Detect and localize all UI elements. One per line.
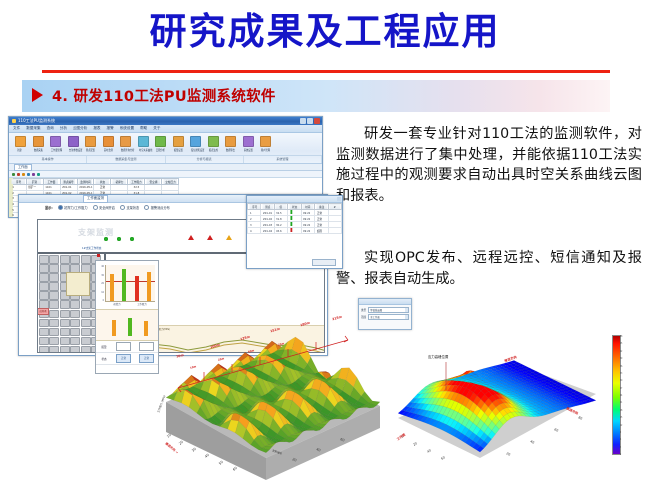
colorbar-tick-16: 0 [620,453,621,456]
svg-text:60: 60 [554,427,559,432]
menu-item-0[interactable]: 文件 [13,126,20,131]
window-controls[interactable] [300,118,320,124]
support-unit[interactable] [70,346,80,353]
surface2-annotation: 应力高峰位置 [428,354,448,359]
bar-0 [110,274,114,301]
ribbon-button-0[interactable]: 新建 [15,136,24,152]
support-unit[interactable] [49,291,59,300]
y-tick-1: 30 [101,274,104,277]
menu-item-1[interactable]: 数据采集 [26,126,40,131]
status-cell: 正常 [116,354,131,363]
bar-series-2 [106,314,154,336]
colorbar-tick-10: 18 [620,409,622,412]
ribbon-icon-1 [33,136,44,147]
y-tick-3: 10 [101,291,104,294]
measurement-table[interactable]: 序号测点值状态时间备注#1Z01-0132.509:22正常2Z01-0231.… [247,203,342,234]
support-unit[interactable] [39,337,49,346]
ribbon-label-0: 新建 [16,148,23,152]
screenshot-collage: 110工法PU监测系统 文件数据采集查询分析云图分析报表报警系统设置帮助关于 新… [0,112,650,488]
bullet-arrow-icon [32,88,43,102]
ribbon-icon-4 [85,136,96,147]
ribbon-label-13: 系统设置 [243,148,250,152]
surface-chart-2-svg: 0 20 40 60 20 40 60 80 [388,334,616,486]
bar-1 [122,269,126,301]
page-title: 研究成果及工程应用 [0,8,650,56]
maximize-button[interactable] [307,118,313,124]
ribbon-icon-row[interactable]: 新建数据采集工作面管理支架参数设置测点配置实时监测数据查询分析时空关系曲线云图分… [9,133,322,152]
ribbon-icon-7 [138,136,149,147]
ribbon-button-14[interactable]: 用户管理 [260,136,269,152]
close-button[interactable] [314,118,320,124]
support-unit[interactable] [49,337,59,346]
toolbar-export-icon[interactable] [32,173,35,176]
ribbon-label-9: 报警设置 [173,148,180,152]
colorbar-tick-0: 48 [620,335,622,338]
support-unit[interactable] [60,255,70,264]
app-titlebar: 110工法PU监测系统 [9,117,322,125]
support-unit[interactable] [81,255,91,264]
radio-label: 安全阀开启 [99,205,115,210]
chevron-down-icon[interactable] [405,315,409,319]
support-unit[interactable] [70,255,80,264]
menu-item-8[interactable]: 帮助 [140,126,147,131]
ribbon-icon-14 [260,136,271,147]
ribbon-label-3: 支架参数设置 [68,148,75,152]
ribbon-button-10[interactable]: 短信通知设置 [190,136,199,152]
colorbar-tick-6: 30 [620,379,622,382]
menu-item-5[interactable]: 报表 [93,126,100,131]
ribbon-button-13[interactable]: 系统设置 [243,136,252,152]
support-unit[interactable] [70,337,80,346]
svg-text:40: 40 [530,439,535,444]
app-logo-icon [12,119,16,123]
support-unit[interactable] [81,337,91,346]
svg-text:60: 60 [232,466,238,472]
surface-chart-1-svg: 10 20 30 40 50 60 20 40 60 [148,310,392,488]
ribbon-label-1: 数据采集 [33,148,40,152]
support-unit[interactable] [39,264,49,273]
radio-option-2[interactable]: 支架状态 [120,205,139,210]
x-label-1: 工作阻力 [137,302,147,309]
measurement-data-window[interactable]: 序号测点值状态时间备注#1Z01-0132.509:22正常2Z01-0231.… [246,195,343,269]
ribbon-button-2[interactable]: 工作面管理 [50,136,59,152]
support-unit[interactable] [70,328,80,337]
colorbar-tick-13: 9 [620,431,621,434]
colorbar-tick-8: 24 [620,394,622,397]
title-divider [42,70,610,73]
support-unit[interactable] [49,310,59,319]
app-title: 110工法PU监测系统 [18,117,55,125]
ribbon-label-8: 云图分析 [156,148,163,152]
colorbar-tick-15: 3 [620,446,621,449]
support-unit[interactable] [60,337,70,346]
svg-text:20: 20 [178,440,184,446]
toolbar-stop-icon[interactable] [17,173,20,176]
radio-label: 支架状态 [126,205,139,210]
bar-3 [147,272,151,301]
radio-option-0[interactable]: 初撑力/工作阻力 [58,205,88,210]
support-unit[interactable] [60,328,70,337]
bar2-0 [112,320,116,336]
radio-label: 初撑力/工作阻力 [64,205,87,210]
ribbon-button-4[interactable]: 测点配置 [85,136,94,152]
support-unit[interactable] [39,346,49,353]
support-unit[interactable] [60,310,70,319]
app-menubar[interactable]: 文件数据采集查询分析云图分析报表报警系统设置帮助关于 [9,125,322,133]
status-led-green [104,237,108,241]
ribbon-icon-12 [225,136,236,147]
toolbar-filter-icon[interactable] [37,173,40,176]
support-unit[interactable] [70,300,80,309]
app-tabrow[interactable]: 工作面 [9,164,322,171]
ribbon-button-7[interactable]: 时空关系曲线 [138,136,147,152]
x-label-0: 初撑力 [113,302,120,309]
radio-icon[interactable] [93,205,98,210]
ribbon-icon-8 [155,136,166,147]
tab-face-monitor[interactable]: 工作面监测 [83,195,108,202]
support-unit[interactable] [70,310,80,319]
ribbon-group-2: 分析与报表 [166,156,244,163]
support-unit[interactable] [49,300,59,309]
ribbon-icon-3 [68,136,79,147]
support-unit[interactable] [60,319,70,328]
refresh-button[interactable] [312,259,336,266]
status-row-1-label: 报警 [96,345,112,349]
ribbon-button-3[interactable]: 支架参数设置 [68,136,77,152]
bar-chart-upper: 403020100 初撑力工作阻力 [96,261,158,310]
ribbon-label-11: 报表生成 [208,148,215,152]
colorbar-ticks: 484542393633302724211815129630 [620,335,636,453]
alarm-marker-row [188,235,232,240]
grid-toolbar[interactable] [9,171,322,178]
ribbon-label-10: 短信通知设置 [191,148,198,152]
svg-text:20: 20 [412,441,418,447]
svg-text:40: 40 [426,448,432,454]
colorbar-tick-14: 6 [620,438,621,441]
radio-option-3[interactable]: 报警测点分布 [144,205,170,210]
entry-tag: 进风巷 [37,308,49,315]
support-unit[interactable] [70,319,80,328]
support-grid[interactable] [38,254,102,353]
support-unit[interactable] [81,310,91,319]
bar-chart-plot [105,265,155,302]
ribbon-button-9[interactable]: 报警设置 [173,136,182,152]
ribbon-label-12: 数据导出 [226,148,233,152]
support-unit[interactable] [39,319,49,328]
status-led-green [130,237,134,241]
ribbon-group-0: 基本操作 [9,156,87,163]
ribbon-label-7: 时空关系曲线 [138,148,145,152]
ribbon-label-14: 用户管理 [261,148,268,152]
svg-text:50: 50 [218,460,224,466]
ribbon-icon-5 [103,136,114,147]
minimize-button[interactable] [300,118,306,124]
status-indicator-icon [290,216,292,219]
surface-chart-1: 10 20 30 40 50 60 20 40 60 70m 100m 125m… [148,310,392,488]
data-window-close-icon[interactable] [337,197,341,201]
menu-item-4[interactable]: 云图分析 [73,126,87,131]
colorbar: 484542393633302724211815129630 [612,335,624,453]
support-unit[interactable] [49,282,59,291]
support-unit[interactable] [60,346,70,353]
colorbar-tick-4: 36 [620,365,622,368]
app-ribbon[interactable]: 新建数据采集工作面管理支架参数设置测点配置实时监测数据查询分析时空关系曲线云图分… [9,133,322,164]
colorbar-tick-12: 12 [620,424,622,427]
y-tick-0: 40 [101,265,104,268]
measurement-cell: Z01-04 [262,228,274,234]
toolbar-refresh-icon[interactable] [27,173,30,176]
support-unit[interactable] [49,264,59,273]
svg-text:60: 60 [440,455,446,461]
ribbon-icon-2 [50,136,61,147]
radio-option-1[interactable]: 安全阀开启 [93,205,115,210]
colorbar-tick-7: 27 [620,387,622,390]
colorbar-tick-2: 42 [620,350,622,353]
measurement-cell: 09:22 [302,228,314,234]
measurement-cell [288,228,300,234]
svg-text:20: 20 [506,451,511,456]
menu-item-2[interactable]: 查询 [47,126,54,131]
support-unit[interactable] [49,346,59,353]
support-unit[interactable] [81,328,91,337]
toolbar-run-icon[interactable] [12,173,15,176]
tab-worksurface[interactable]: 工作面 [14,164,32,171]
ribbon-button-12[interactable]: 数据导出 [225,136,234,152]
support-unit[interactable] [49,255,59,264]
bar-chart-x-labels: 初撑力工作阻力 [105,302,155,309]
status-indicator-icon [290,210,292,213]
colorbar-tick-5: 33 [620,372,622,375]
ribbon-icon-10 [190,136,201,147]
colorbar-tick-9: 21 [620,401,622,404]
measurement-cell: 45.6 [275,228,287,234]
measurement-cell: 4 [248,228,260,234]
ribbon-label-5: 实时监测 [103,148,110,152]
status-indicator-icon [290,228,292,231]
radio-icon[interactable] [144,205,149,210]
ribbon-button-8[interactable]: 云图分析 [155,136,164,152]
alarm-triangle-icon [207,235,213,240]
support-unit[interactable] [39,255,49,264]
status-cell [116,342,131,351]
ribbon-group-3: 系统管理 [244,156,322,163]
support-unit[interactable] [49,328,59,337]
support-unit[interactable] [49,273,59,282]
bar2-1 [128,318,132,336]
measurement-row[interactable]: 4Z01-0445.609:22超限 [248,228,342,234]
bar-series-1 [106,265,155,301]
svg-text:40: 40 [204,453,210,459]
colorbar-tick-1: 45 [620,342,622,345]
y-tick-4: 0 [103,299,104,302]
menu-item-6[interactable]: 报警 [107,126,114,131]
ribbon-label-2: 工作面管理 [51,148,58,152]
radio-label: 报警测点分布 [151,205,170,210]
menu-item-3[interactable]: 分析 [60,126,67,131]
display-option-label: 显示: [45,205,53,210]
support-unit[interactable] [39,291,49,300]
svg-text:80: 80 [578,415,583,420]
face-sensor-label: 1#支架工作状态 [82,246,101,250]
menu-item-9[interactable]: 关于 [153,126,160,131]
section-header-label: 4. 研发110工法PU监测系统软件 [52,86,276,108]
ribbon-group-1: 数据采集与监测 [87,156,165,163]
slide-root: 研究成果及工程应用 4. 研发110工法PU监测系统软件 研发一套专业针对110… [0,0,650,488]
status-indicator-icon [290,222,292,225]
bar-chart-y-axis: 403020100 [96,261,105,309]
radio-icon[interactable] [58,205,63,210]
support-unit[interactable] [39,273,49,282]
measurement-cell: 超限 [315,228,327,234]
support-unit[interactable] [39,328,49,337]
support-highlight-box [66,272,90,296]
support-unit[interactable] [81,300,91,309]
ribbon-button-5[interactable]: 实时监测 [103,136,112,152]
toolbar-pause-icon[interactable] [22,173,25,176]
ribbon-icon-11 [208,136,219,147]
ribbon-icon-0 [15,136,26,147]
alarm-triangle-icon [188,235,194,240]
support-unit[interactable] [81,346,91,353]
measurement-cell [329,228,341,234]
alarm-triangle-icon [226,235,232,240]
support-status-led [97,254,100,257]
data-window-titlebar [247,196,342,203]
status-row-2-label: 状态 [96,357,112,361]
colorbar-tick-3: 39 [620,357,622,360]
ribbon-button-1[interactable]: 数据采集 [33,136,42,152]
radio-icon[interactable] [120,205,125,210]
colorbar-tick-11: 15 [620,416,622,419]
ribbon-icon-9 [173,136,184,147]
ribbon-label-4: 测点配置 [86,148,93,152]
support-unit[interactable] [81,319,91,328]
support-unit[interactable] [49,319,59,328]
ribbon-icon-6 [120,136,131,147]
ribbon-button-6[interactable]: 数据查询分析 [120,136,129,152]
ribbon-label-6: 数据查询分析 [121,148,128,152]
menu-item-7[interactable]: 系统设置 [120,126,134,131]
bar-2 [135,276,139,301]
ribbon-button-11[interactable]: 报表生成 [208,136,217,152]
chevron-down-icon[interactable] [405,308,409,312]
y-tick-2: 20 [101,282,104,285]
status-led-green [117,237,121,241]
ribbon-icon-13 [243,136,254,147]
status-led-row [104,237,134,241]
surface-chart-2: 0 20 40 60 20 40 60 80 应力高峰位置 推进方向 推进方向 … [388,334,616,486]
svg-text:30: 30 [191,447,197,453]
support-unit[interactable] [60,300,70,309]
ribbon-group-labels: 基本操作数据采集与监测分析与报表系统管理 [9,155,322,163]
support-unit[interactable] [39,282,49,291]
